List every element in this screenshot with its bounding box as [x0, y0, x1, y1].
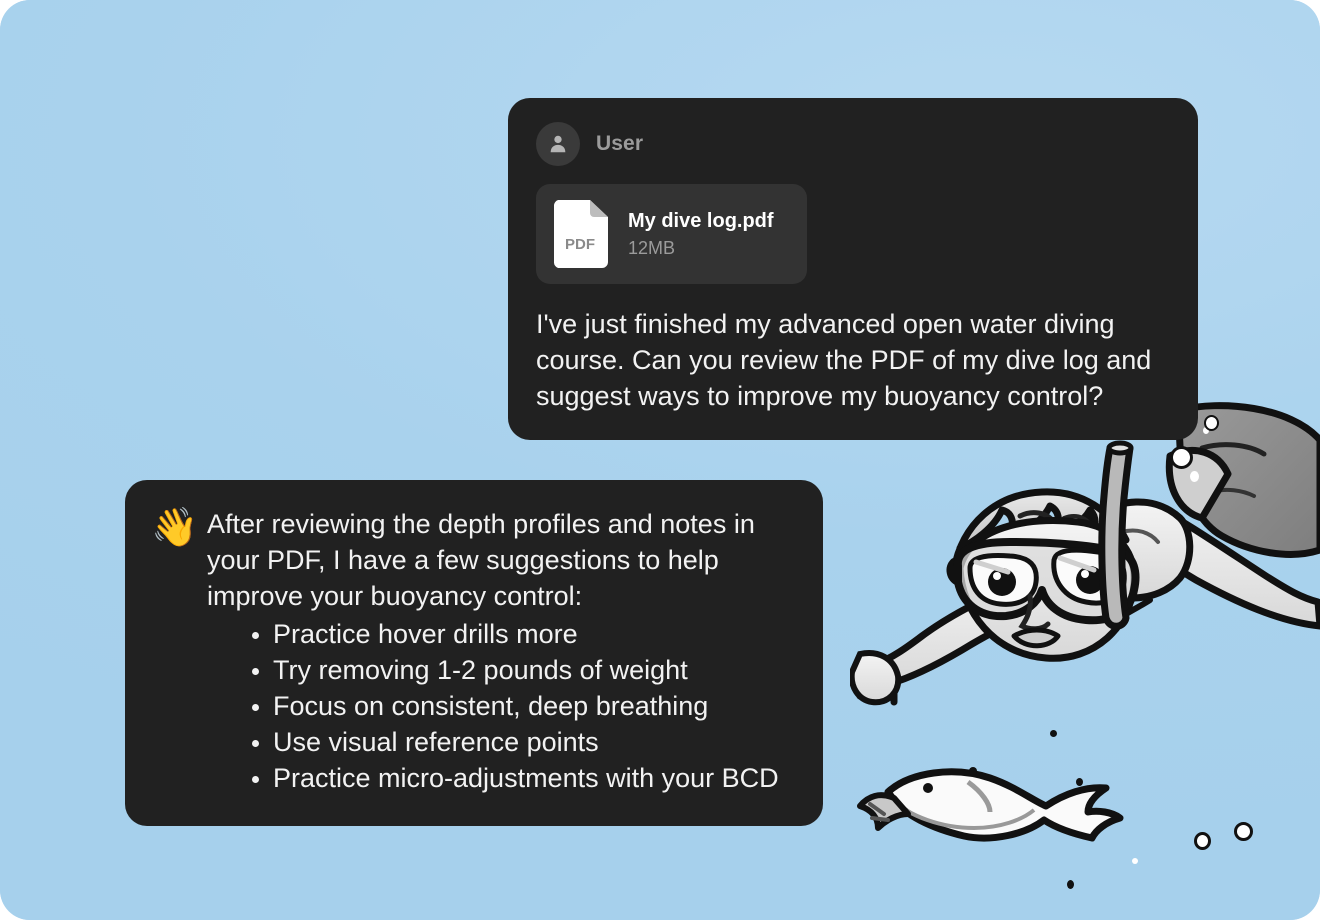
- air-bubble-icon: [1076, 778, 1083, 786]
- person-icon: [547, 133, 569, 155]
- pdf-file-icon: PDF: [554, 200, 608, 268]
- avatar: [536, 122, 580, 166]
- air-bubble-icon: [1194, 832, 1211, 850]
- user-message-text: I've just finished my advanced open wate…: [536, 306, 1170, 414]
- user-name-label: User: [596, 132, 643, 156]
- pdf-attachment-meta: My dive log.pdf 12MB: [628, 210, 774, 259]
- list-item: Use visual reference points: [247, 724, 793, 760]
- suggestion-list: Practice hover drills more Try removing …: [151, 616, 793, 796]
- screen-canvas: User PDF My dive log.pdf 12MB I've just …: [0, 0, 1320, 920]
- air-bubble-icon: [1204, 415, 1219, 431]
- waving-hand-emoji: 👋: [151, 509, 193, 551]
- user-message-header: User: [536, 122, 1170, 166]
- pdf-file-name: My dive log.pdf: [628, 210, 774, 233]
- svg-text:PDF: PDF: [565, 236, 595, 253]
- air-bubble-icon: [1170, 446, 1193, 469]
- pdf-file-size: 12MB: [628, 238, 774, 259]
- air-bubble-icon: [1190, 471, 1199, 482]
- assistant-message-bubble: 👋 After reviewing the depth profiles and…: [125, 480, 823, 826]
- air-bubble-icon: [1050, 730, 1057, 737]
- user-message-bubble: User PDF My dive log.pdf 12MB I've just …: [508, 98, 1198, 440]
- list-item: Focus on consistent, deep breathing: [247, 688, 793, 724]
- air-bubble-icon: [1067, 880, 1074, 889]
- assistant-intro-text: After reviewing the depth profiles and n…: [207, 506, 793, 614]
- list-item: Practice hover drills more: [247, 616, 793, 652]
- list-item: Try removing 1-2 pounds of weight: [247, 652, 793, 688]
- assistant-intro-row: 👋 After reviewing the depth profiles and…: [151, 506, 793, 614]
- air-bubble-icon: [1234, 822, 1253, 841]
- list-item: Practice micro-adjustments with your BCD: [247, 760, 793, 796]
- air-bubble-icon: [1132, 858, 1138, 864]
- air-bubble-icon: [969, 767, 977, 775]
- pdf-attachment-card[interactable]: PDF My dive log.pdf 12MB: [536, 184, 807, 284]
